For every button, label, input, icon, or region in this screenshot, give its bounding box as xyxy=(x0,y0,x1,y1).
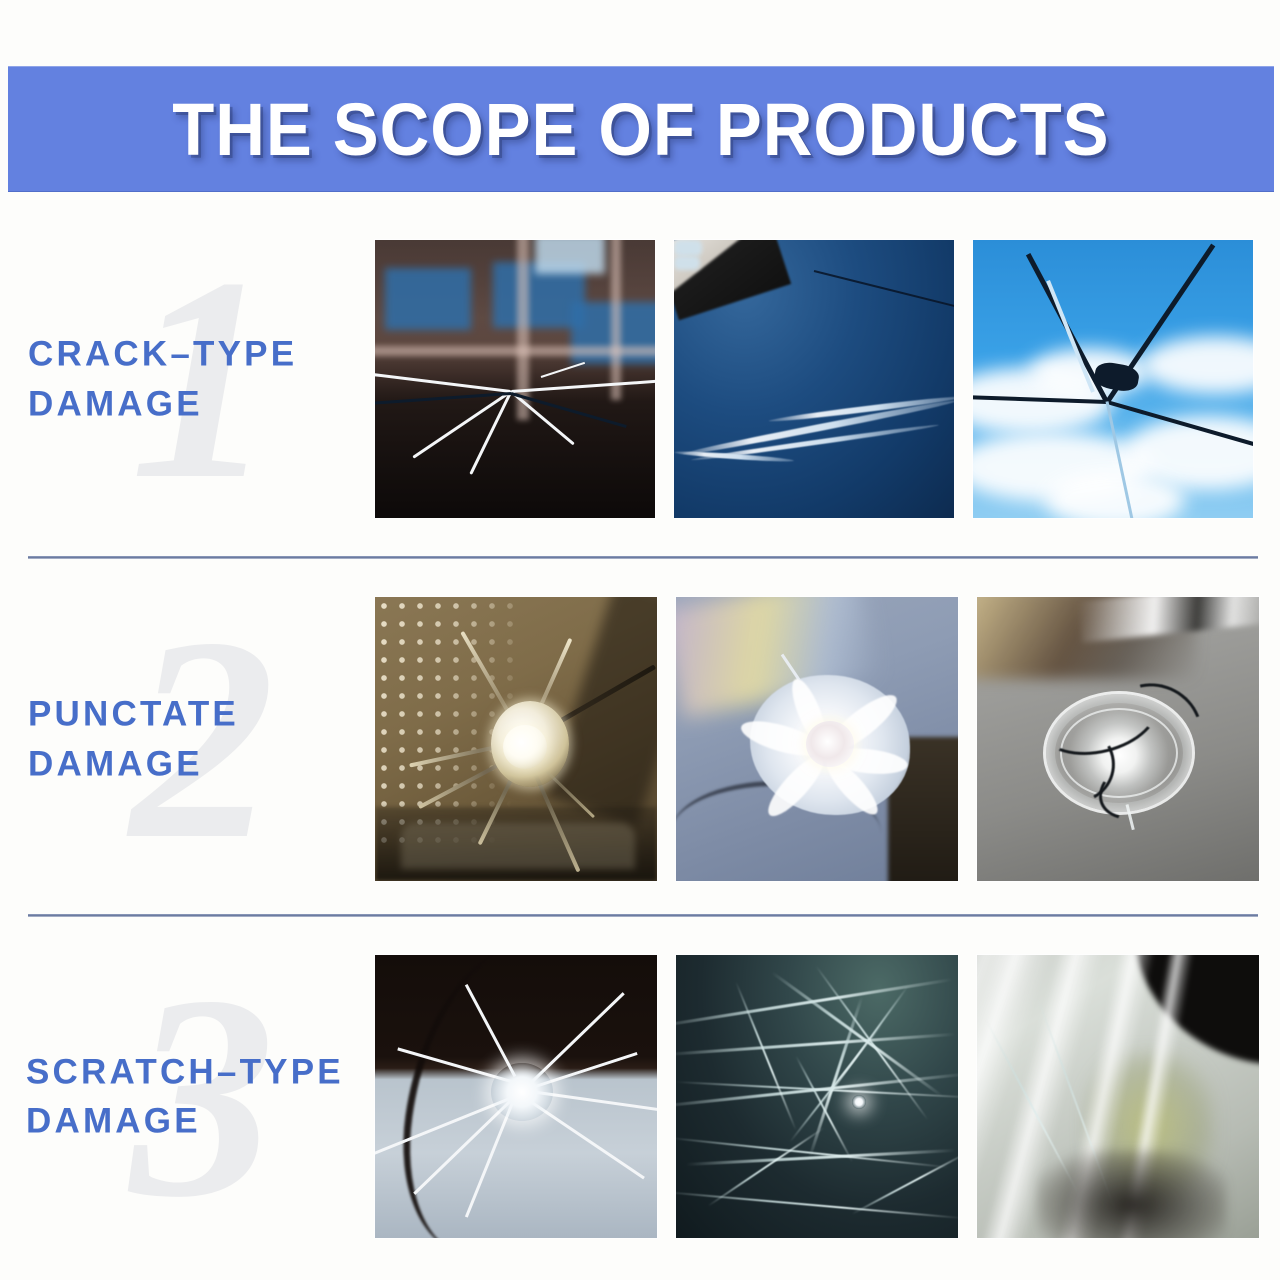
tile-artwork xyxy=(676,955,958,1238)
product-scope-infographic: THE SCOPE OF PRODUCTS 1 CRACK–TYPE DAMAG… xyxy=(0,0,1280,1280)
tile-artwork xyxy=(674,240,954,518)
image-tile-long-line-crack-blue-glass[interactable] xyxy=(674,240,954,518)
header-banner: THE SCOPE OF PRODUCTS xyxy=(8,66,1274,192)
tile-artwork xyxy=(977,955,1259,1238)
image-tiles-row-2 xyxy=(375,597,1259,881)
image-tiles-row-1 xyxy=(375,240,1253,518)
tile-artwork xyxy=(977,597,1259,881)
section-divider-2 xyxy=(28,914,1258,917)
tile-artwork xyxy=(375,955,657,1238)
section-label-zone-2: 2 PUNCTATE DAMAGE xyxy=(0,597,375,881)
section-label-zone-3: 3 SCRATCH–TYPE DAMAGE xyxy=(0,955,375,1238)
section-label-zone-1: 1 CRACK–TYPE DAMAGE xyxy=(0,240,375,518)
section-divider-1 xyxy=(28,556,1258,559)
page-title: THE SCOPE OF PRODUCTS xyxy=(172,87,1109,172)
image-tile-chip-with-legs-olive-glass[interactable] xyxy=(375,597,657,881)
image-tile-bullseye-pit-grey-glass[interactable] xyxy=(977,597,1259,881)
section-label-1: CRACK–TYPE DAMAGE xyxy=(28,329,297,428)
section-row-scratch-type: 3 SCRATCH–TYPE DAMAGE xyxy=(0,955,1280,1238)
tile-artwork xyxy=(676,597,958,881)
image-tile-crisscross-scratches-teal-glass[interactable] xyxy=(676,955,958,1238)
section-row-crack-type: 1 CRACK–TYPE DAMAGE xyxy=(0,240,1280,518)
image-tile-scuffed-hazy-headlight-glass[interactable] xyxy=(977,955,1259,1238)
image-tile-impact-with-scratch-rays[interactable] xyxy=(375,955,657,1238)
image-tile-flower-break-grey-glass[interactable] xyxy=(676,597,958,881)
tile-artwork xyxy=(375,240,655,518)
image-tiles-row-3 xyxy=(375,955,1259,1238)
section-label-2: PUNCTATE DAMAGE xyxy=(28,689,239,788)
image-tile-star-crack-on-dark-windshield[interactable] xyxy=(375,240,655,518)
tile-artwork xyxy=(973,240,1253,518)
tile-artwork xyxy=(375,597,657,881)
section-row-punctate: 2 PUNCTATE DAMAGE xyxy=(0,597,1280,881)
section-label-3: SCRATCH–TYPE DAMAGE xyxy=(26,1047,344,1146)
image-tile-radial-crack-against-sky[interactable] xyxy=(973,240,1253,518)
